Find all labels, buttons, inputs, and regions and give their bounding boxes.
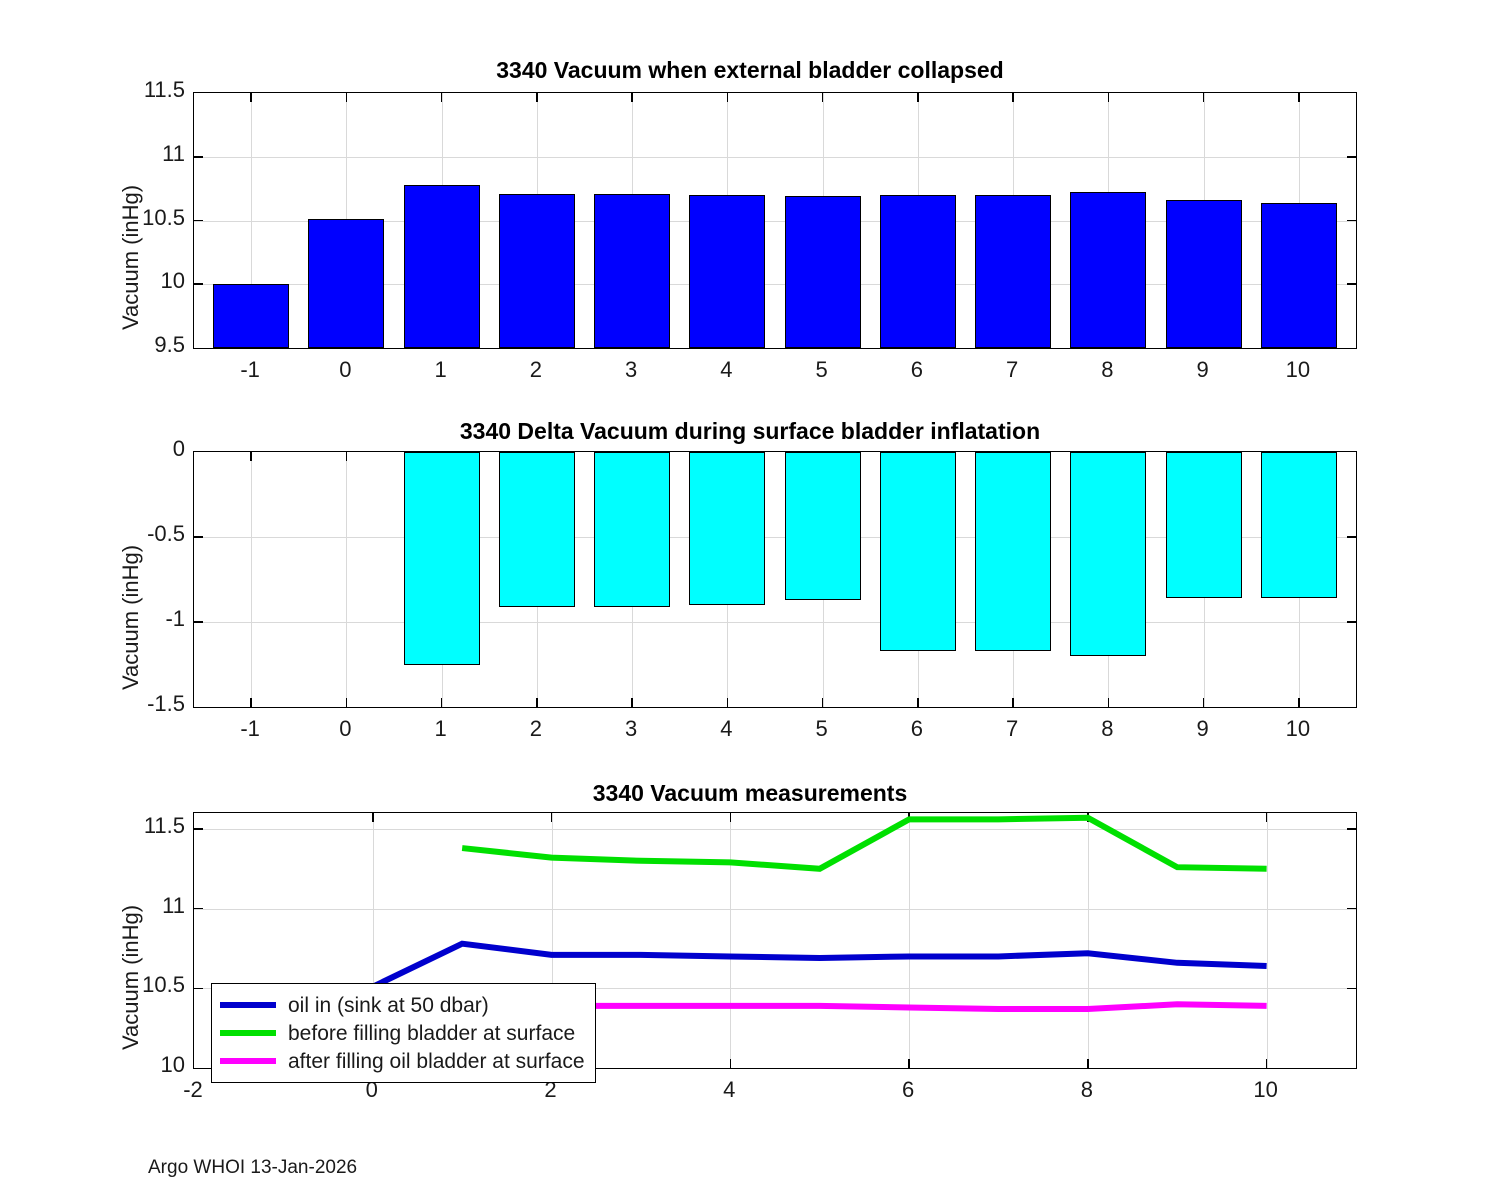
x-tick-mark — [441, 698, 443, 707]
x-tick-mark — [1108, 698, 1110, 707]
y-tick-label: 10.5 — [55, 972, 185, 998]
x-tick-mark — [346, 452, 348, 461]
y-tick-label: 11.5 — [55, 813, 185, 839]
footer-credit: Argo WHOI 13-Jan-2026 — [148, 1157, 357, 1179]
legend-item: after filling oil bladder at surface — [220, 1047, 585, 1075]
x-tick-mark — [917, 698, 919, 707]
bar — [499, 452, 575, 607]
x-tick-label: 4 — [669, 1077, 789, 1103]
bar — [1070, 452, 1146, 656]
panel-2-title: 3340 Delta Vacuum during surface bladder… — [0, 418, 1500, 445]
x-tick-mark — [250, 698, 252, 707]
legend-item-label: after filling oil bladder at surface — [288, 1051, 585, 1072]
legend-color-swatch — [220, 1058, 276, 1064]
y-tick-label: -0.5 — [55, 521, 185, 547]
x-tick-mark — [1012, 698, 1014, 707]
legend-item: oil in (sink at 50 dbar) — [220, 991, 585, 1019]
x-tick-mark — [1203, 698, 1205, 707]
bar — [594, 452, 670, 607]
legend-color-swatch — [220, 1030, 276, 1036]
bar — [880, 452, 956, 651]
bar — [785, 452, 861, 600]
legend-item: before filling bladder at surface — [220, 1019, 585, 1047]
legend-color-swatch — [220, 1002, 276, 1008]
gridline-vertical — [251, 452, 252, 707]
y-tick-label: -1.5 — [55, 691, 185, 717]
bar — [975, 452, 1051, 651]
x-tick-label: 10 — [1238, 716, 1358, 742]
y-tick-mark — [1347, 536, 1356, 538]
bar — [689, 452, 765, 605]
x-tick-mark — [250, 452, 252, 461]
x-tick-mark — [1298, 698, 1300, 707]
x-tick-mark — [822, 698, 824, 707]
x-tick-mark — [536, 698, 538, 707]
legend-item-label: before filling bladder at surface — [288, 1023, 575, 1044]
line-series — [462, 818, 1266, 869]
gridline-horizontal — [194, 622, 1356, 623]
bar — [1166, 452, 1242, 598]
bar — [1261, 452, 1337, 598]
y-tick-mark — [194, 621, 203, 623]
chart-legend: oil in (sink at 50 dbar)before filling b… — [211, 983, 596, 1083]
gridline-vertical — [346, 452, 347, 707]
panel-vacuum-measurements: 3340 Vacuum measurements Vacuum (inHg) o… — [0, 0, 1500, 400]
x-tick-mark — [631, 698, 633, 707]
figure-root: 3340 Vacuum when external bladder collap… — [0, 0, 1500, 1200]
y-tick-label: -1 — [55, 606, 185, 632]
legend-item-label: oil in (sink at 50 dbar) — [288, 995, 489, 1016]
y-tick-label: 10 — [55, 1052, 185, 1078]
panel-2-plot-area — [193, 451, 1357, 708]
y-tick-label: 0 — [55, 436, 185, 462]
panel-3-title: 3340 Vacuum measurements — [0, 780, 1500, 807]
y-tick-mark — [194, 536, 203, 538]
y-tick-mark — [1347, 621, 1356, 623]
y-tick-label: 11 — [55, 893, 185, 919]
x-tick-label: 8 — [1027, 1077, 1147, 1103]
bar — [404, 452, 480, 665]
x-tick-mark — [346, 698, 348, 707]
x-tick-label: 10 — [1206, 1077, 1326, 1103]
x-tick-label: 6 — [848, 1077, 968, 1103]
x-tick-mark — [727, 698, 729, 707]
